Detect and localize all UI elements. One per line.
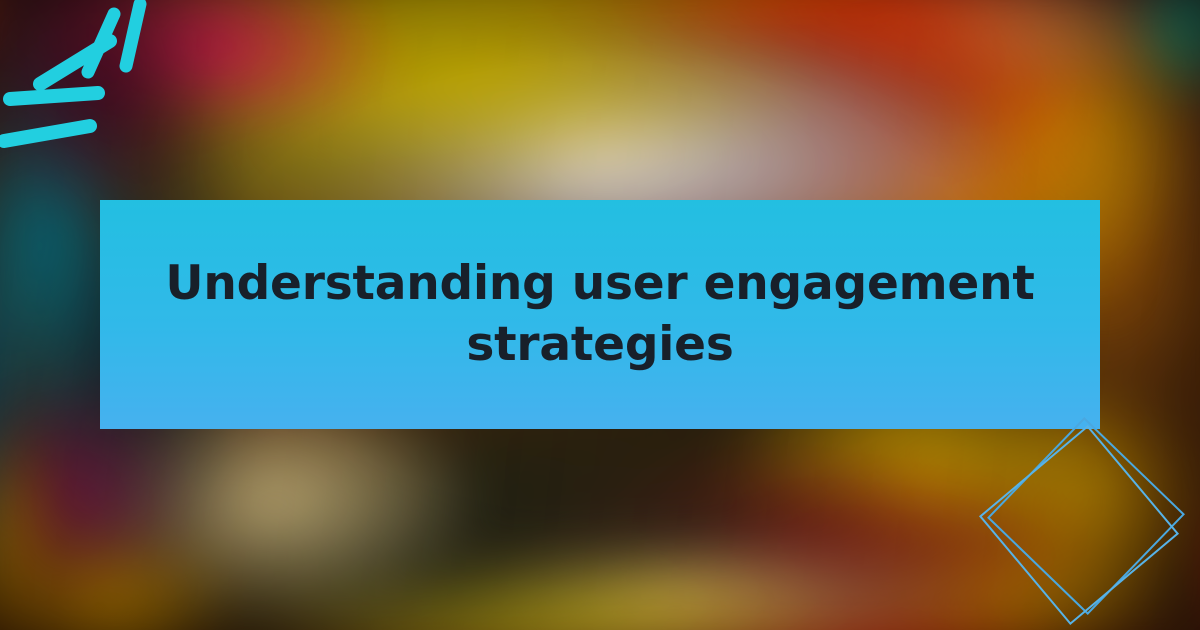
headline-banner: Understanding user engagement strategies [100, 200, 1100, 429]
sparkle-burst-decoration [0, 0, 210, 175]
share-card-canvas: Understanding user engagement strategies [0, 0, 1200, 630]
burst-ray-2 [10, 93, 98, 99]
burst-ray-5 [126, 4, 140, 66]
page-title: Understanding user engagement strategies [144, 254, 1056, 374]
burst-ray-1 [4, 126, 90, 141]
